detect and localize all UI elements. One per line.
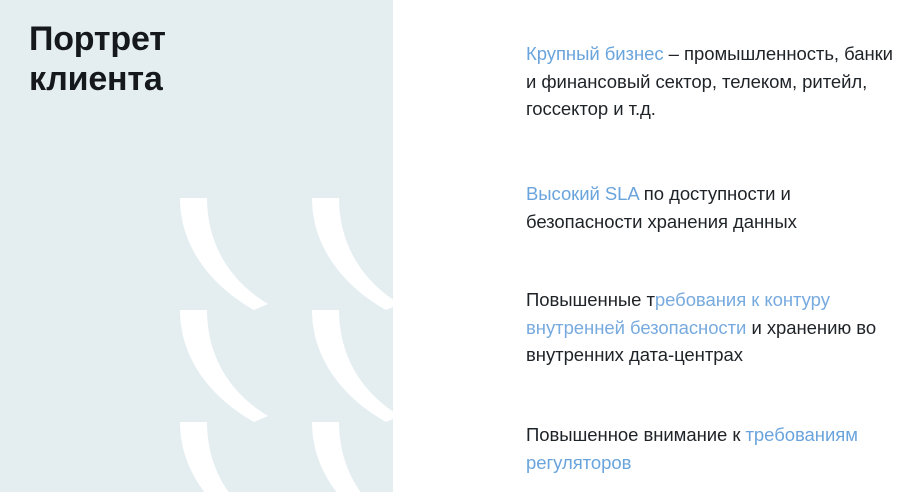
text-regulator-lead: Повышенное внимание к <box>526 424 746 445</box>
arc-group <box>180 198 393 492</box>
text-block-high-sla: Высокий SLA по доступности и безопасност… <box>526 180 908 235</box>
left-panel: Портрет клиента <box>0 0 393 492</box>
text-block-regulator-attention: Повышенное внимание к требованиям регуля… <box>526 421 908 476</box>
text-security-lead: Повышенные т <box>526 289 655 310</box>
accent-large-business: Крупный бизнес <box>526 43 664 64</box>
slide-portrait-of-client: Портрет клиента Крупный бизнес – промышл… <box>0 0 920 492</box>
content-column: Крупный бизнес – промышленность, банки и… <box>526 0 906 492</box>
text-block-security-requirements: Повышенные требования к контуру внутренн… <box>526 286 908 369</box>
page-title: Портрет клиента <box>29 20 349 100</box>
accent-high-sla: Высокий SLA <box>526 183 639 204</box>
text-block-large-business: Крупный бизнес – промышленность, банки и… <box>526 40 908 123</box>
